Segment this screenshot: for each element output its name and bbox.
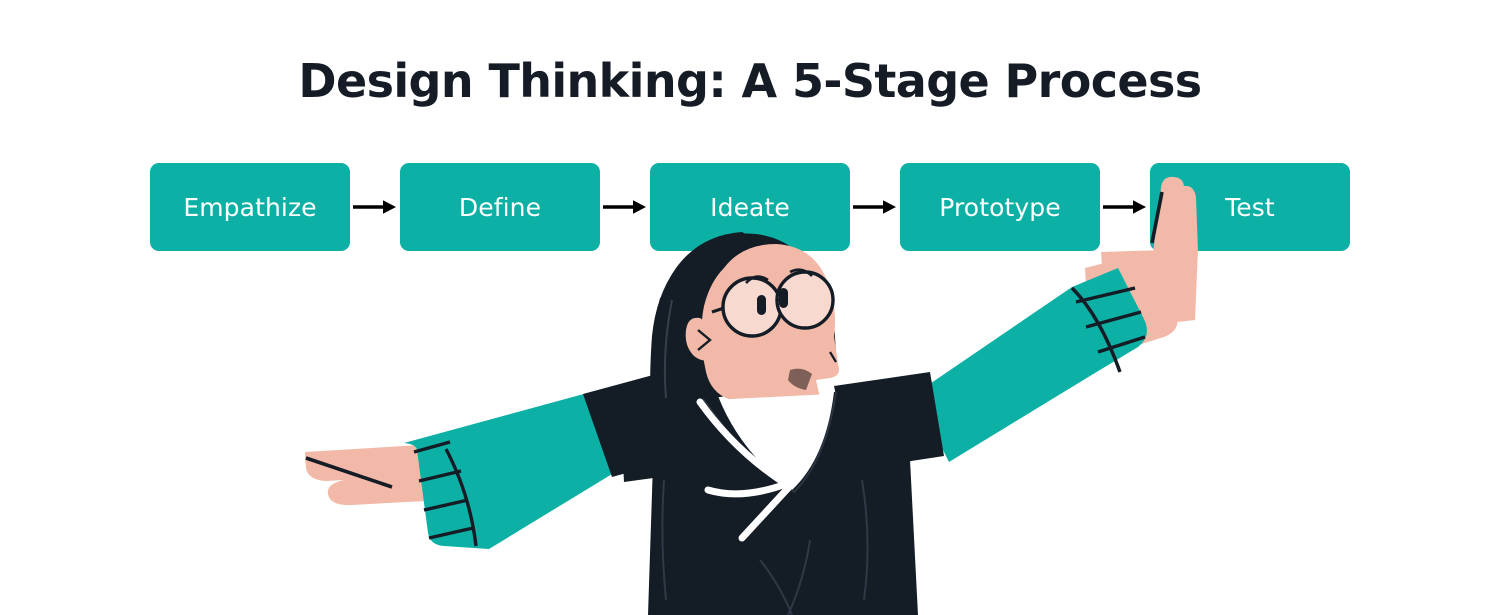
left-arm-extended [305, 365, 709, 549]
arrow-right-icon [603, 198, 647, 216]
dark-hoodie-torso [620, 372, 944, 615]
fabric-folds [662, 480, 867, 615]
nose-line [830, 352, 836, 362]
ear [686, 318, 716, 361]
hair-top [697, 234, 836, 352]
hoodie-left-shoulder [620, 396, 712, 482]
hair-strand-lines [665, 300, 716, 480]
infographic-canvas: Design Thinking: A 5-Stage Process Empat… [0, 0, 1500, 615]
stage-box-empathize[interactable]: Empathize [150, 163, 350, 251]
left-sleeve [404, 392, 617, 549]
left-shoulder-dark [583, 365, 709, 477]
mouth [788, 369, 812, 390]
stage-label-ideate: Ideate [710, 195, 790, 220]
collar-edge [703, 392, 836, 492]
right-hand-palm [1101, 249, 1198, 330]
ear-detail [698, 330, 710, 350]
hair-strand-left [652, 298, 690, 404]
flow-arrow-3 [850, 163, 900, 251]
hoodie-right-shoulder [834, 372, 944, 470]
arrow-right-icon [353, 198, 397, 216]
arrow-right-icon [853, 198, 897, 216]
right-forearm-skin [1085, 250, 1178, 360]
stage-label-test: Test [1225, 195, 1275, 220]
left-hand-finger-split [306, 458, 392, 487]
left-hand-two-fingers [305, 444, 444, 505]
eyebrow-right [790, 270, 812, 276]
head-with-glasses [686, 244, 839, 402]
pupil-right [779, 288, 788, 308]
left-cuff-ribbing [414, 442, 476, 546]
flow-arrow-2 [600, 163, 650, 251]
right-sleeve [915, 268, 1147, 462]
infographic-page: { "page": { "title": "Design Thinking: A… [0, 0, 1500, 615]
flow-arrow-4 [1100, 163, 1150, 251]
flow-arrow-1 [350, 163, 400, 251]
arrow-right-icon [1103, 198, 1147, 216]
eyebrow-left [746, 277, 768, 283]
long-dark-hair [650, 232, 836, 480]
face [701, 244, 839, 402]
stage-label-define: Define [459, 195, 541, 220]
stage-box-ideate[interactable]: Ideate [650, 163, 850, 251]
white-drawstrings [700, 392, 828, 538]
right-cuff-ribbing [1072, 288, 1145, 372]
stage-box-test[interactable]: Test [1150, 163, 1350, 251]
stage-label-prototype: Prototype [939, 195, 1061, 220]
glasses-lens-right [777, 272, 833, 328]
glasses-lens-left [723, 278, 781, 336]
pupil-left [757, 295, 766, 315]
hoodie-body [648, 382, 918, 615]
stage-box-prototype[interactable]: Prototype [900, 163, 1100, 251]
glasses-temple [712, 308, 724, 312]
glasses-icon [712, 270, 833, 336]
inner-shirt [712, 394, 830, 488]
page-title: Design Thinking: A 5-Stage Process [0, 54, 1500, 108]
stage-label-empathize: Empathize [183, 195, 316, 220]
hair-back [650, 232, 774, 404]
stage-box-define[interactable]: Define [400, 163, 600, 251]
glasses-bridge [777, 300, 786, 305]
process-flow: Empathize Define Ideate [150, 163, 1350, 251]
